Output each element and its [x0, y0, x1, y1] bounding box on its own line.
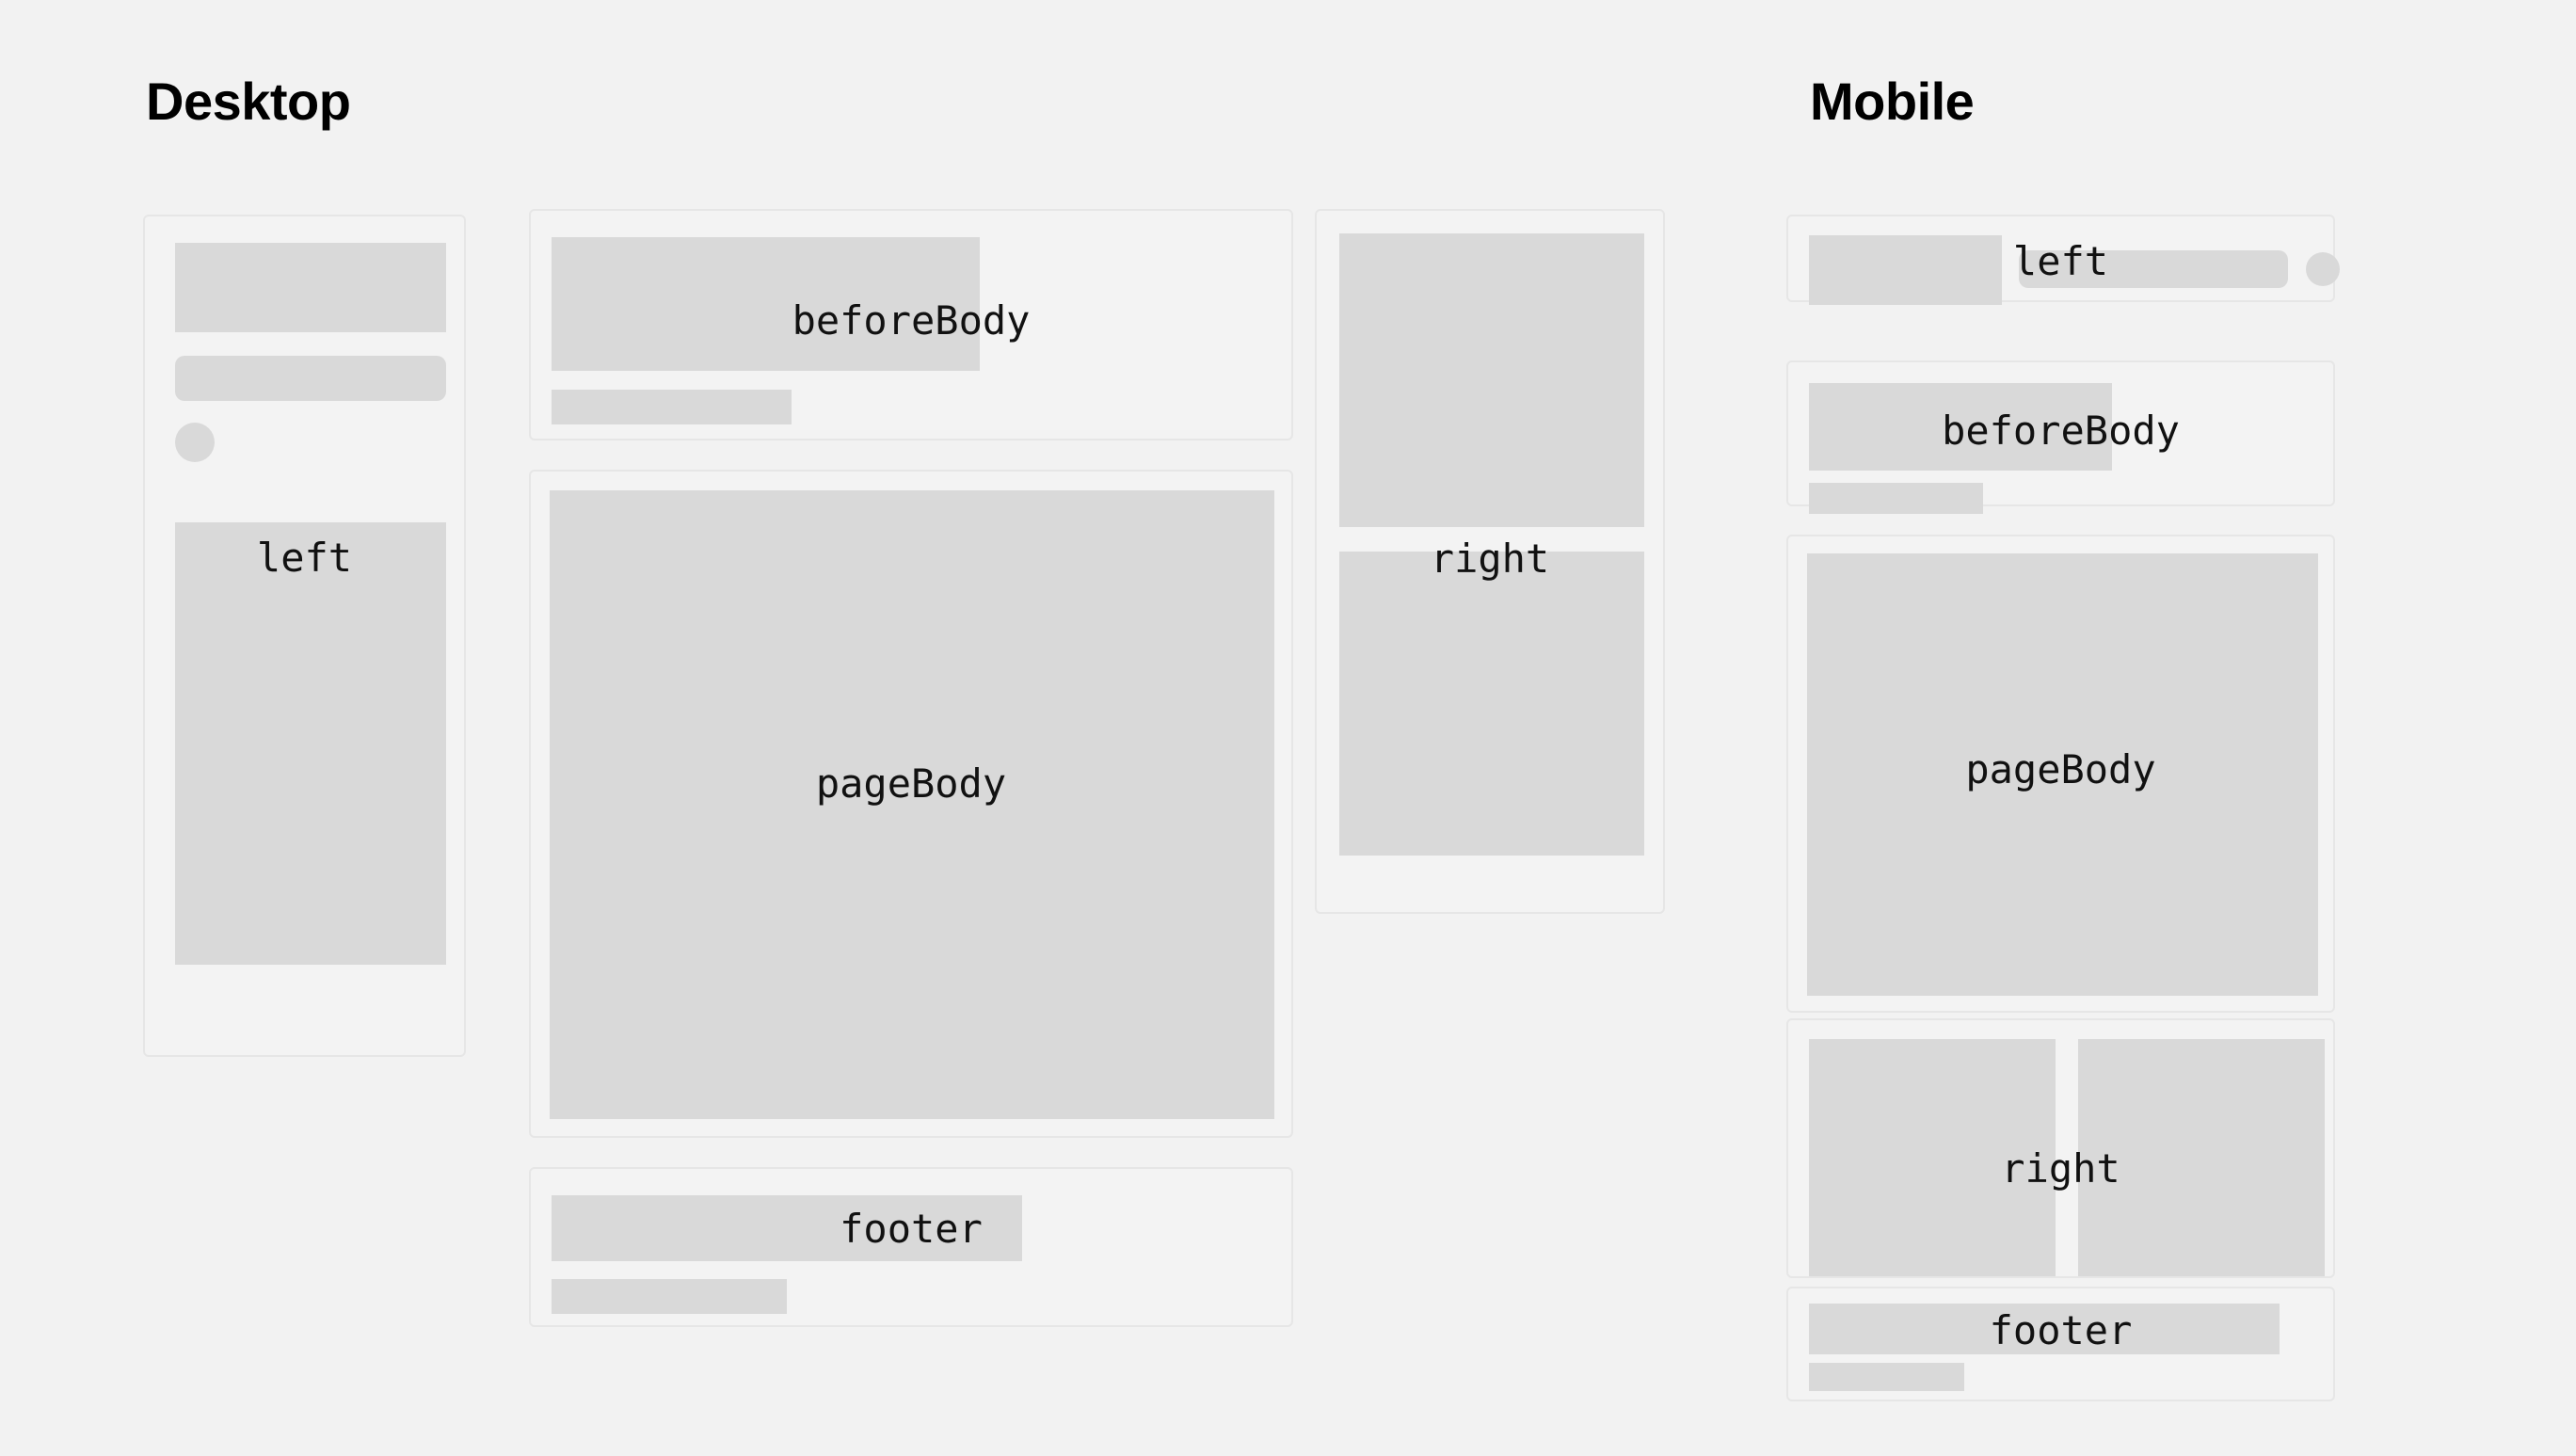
skeleton-block-small [552, 390, 792, 424]
skeleton-block [1809, 1039, 2056, 1276]
skeleton-pill [175, 356, 446, 401]
skeleton-block-large [550, 490, 1274, 1119]
desktop-footer-panel[interactable] [529, 1167, 1293, 1327]
skeleton-block-large [1807, 553, 2318, 996]
desktop-right-panel[interactable] [1315, 209, 1665, 914]
skeleton-block-small [552, 1279, 787, 1314]
mobile-section-title: Mobile [1810, 75, 1974, 128]
skeleton-block [1339, 233, 1644, 527]
skeleton-avatar-circle [175, 423, 215, 462]
skeleton-block [1339, 552, 1644, 856]
skeleton-block [552, 1195, 1022, 1261]
mobile-page-body-panel[interactable] [1786, 535, 2335, 1013]
mobile-footer-panel[interactable] [1786, 1287, 2335, 1401]
skeleton-block [552, 237, 980, 371]
skeleton-block-small [1809, 483, 1983, 514]
skeleton-avatar-circle [2306, 252, 2340, 286]
desktop-left-panel[interactable] [143, 215, 466, 1057]
desktop-page-body-panel[interactable] [529, 470, 1293, 1138]
mobile-left-panel[interactable] [1786, 215, 2335, 302]
desktop-before-body-panel[interactable] [529, 209, 1293, 440]
skeleton-pill [2019, 250, 2288, 288]
skeleton-block-small [1809, 1363, 1964, 1391]
skeleton-block [1809, 1304, 2280, 1354]
skeleton-block [175, 243, 446, 332]
skeleton-block-tall [175, 522, 446, 965]
mobile-right-panel[interactable] [1786, 1018, 2335, 1278]
layout-preview-stage: Desktop left beforeBody pageBody right f… [0, 0, 2576, 1456]
desktop-section-title: Desktop [146, 75, 350, 128]
skeleton-block [1809, 383, 2112, 471]
skeleton-block [2078, 1039, 2325, 1276]
skeleton-block [1809, 235, 2002, 305]
mobile-before-body-panel[interactable] [1786, 360, 2335, 506]
